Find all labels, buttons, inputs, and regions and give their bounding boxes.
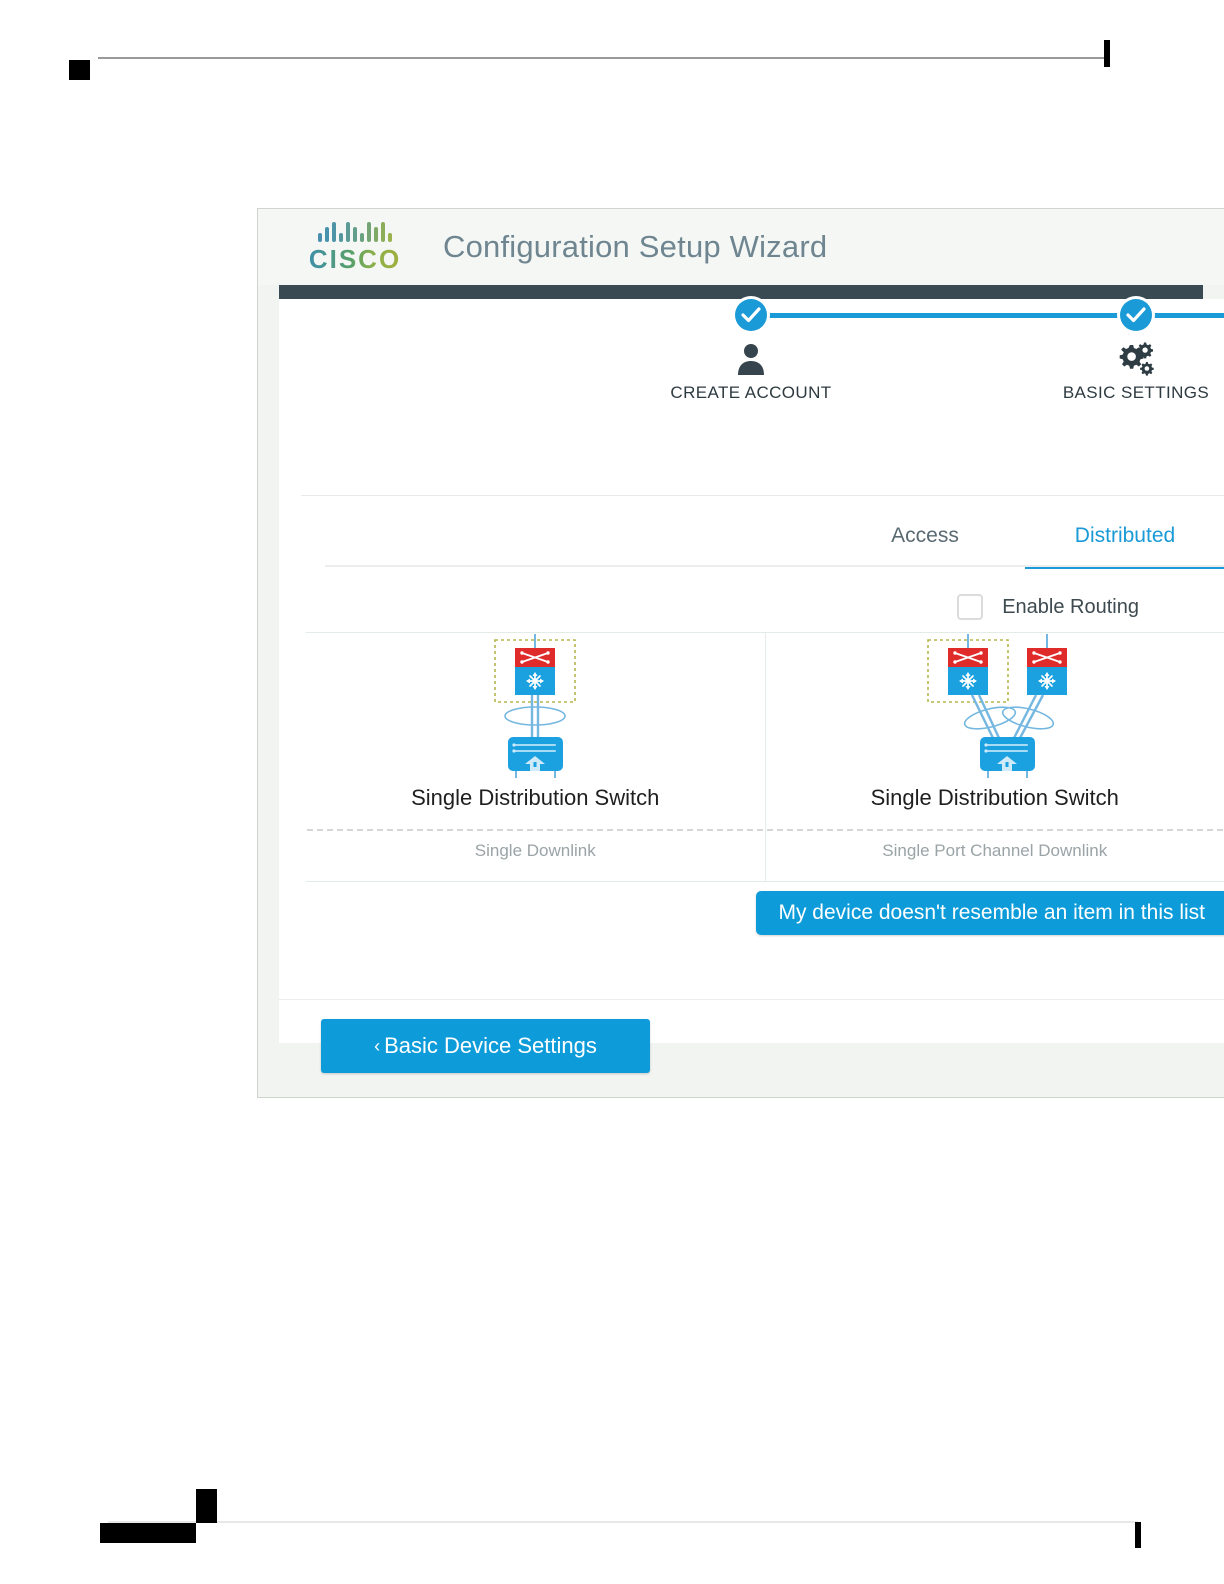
step-create-account[interactable]: CREATE ACCOUNT (631, 299, 871, 403)
cisco-logo: CISCO (299, 220, 411, 275)
topology-option-list: Single Distribution Switch Single Downli… (306, 632, 1224, 882)
page-top-rule (98, 57, 1108, 59)
tab-bar-rule (325, 565, 1224, 567)
step-label: BASIC SETTINGS (1016, 383, 1224, 403)
chevron-left-icon: ‹ (374, 1036, 380, 1056)
user-icon (631, 339, 871, 379)
crop-mark-top-left (69, 60, 90, 80)
enable-routing-label: Enable Routing (1002, 596, 1139, 619)
crop-mark-bottom-left (100, 1523, 196, 1543)
step-complete-check-icon (735, 299, 767, 331)
app-header: CISCO Configuration Setup Wizard (258, 209, 1224, 285)
no-match-row: My device doesn't resemble an item in th… (279, 891, 1224, 935)
topology-option-port-channel-downlink[interactable]: Single Distribution Switch Single Port C… (766, 633, 1224, 881)
back-button-label: Basic Device Settings (384, 1033, 597, 1058)
tab-access[interactable]: Access (825, 511, 1025, 569)
step-complete-check-icon (1120, 299, 1152, 331)
cisco-bridge-logo-icon (318, 220, 392, 242)
step-label: CREATE ACCOUNT (631, 383, 871, 403)
cisco-wordmark: CISCO (309, 244, 401, 275)
single-downlink-diagram-icon (306, 633, 765, 783)
step-basic-settings[interactable]: BASIC SETTINGS (1016, 299, 1224, 403)
tab-bar: Access Distributed (279, 511, 1224, 569)
tab-distributed[interactable]: Distributed (1025, 511, 1224, 569)
topology-option-single-downlink[interactable]: Single Distribution Switch Single Downli… (306, 633, 766, 881)
enable-routing-row: Enable Routing (279, 581, 1224, 633)
option-title: Single Distribution Switch (411, 785, 659, 811)
option-divider (307, 829, 763, 831)
wizard-footer: ‹Basic Device Settings (321, 1019, 650, 1073)
wizard-card: CREATE ACCOUNT (279, 299, 1224, 1043)
wizard-window: CISCO Configuration Setup Wizard CREATE … (257, 208, 1224, 1098)
page-title: Configuration Setup Wizard (443, 229, 827, 265)
wizard-stepper: CREATE ACCOUNT (279, 299, 1224, 411)
stepper-divider (301, 495, 1224, 496)
page-bottom-rule (108, 1521, 1138, 1523)
port-channel-downlink-diagram-icon (766, 633, 1224, 783)
no-match-button[interactable]: My device doesn't resemble an item in th… (756, 891, 1224, 935)
gears-icon (1016, 339, 1224, 379)
back-to-basic-device-settings-button[interactable]: ‹Basic Device Settings (321, 1019, 650, 1073)
tab-label: Access (891, 524, 959, 547)
option-subtitle: Single Port Channel Downlink (882, 841, 1107, 861)
footer-divider (279, 999, 1224, 1000)
crop-mark-bottom-right (1135, 1522, 1141, 1548)
option-divider (767, 829, 1223, 831)
crop-mark-top-right (1104, 40, 1110, 67)
option-subtitle: Single Downlink (475, 841, 596, 861)
header-accent-bar (279, 285, 1203, 299)
crop-mark-bottom-left-tab (196, 1489, 217, 1523)
checkbox-unchecked-icon[interactable] (957, 594, 983, 620)
option-title: Single Distribution Switch (871, 785, 1119, 811)
tab-label: Distributed (1075, 524, 1175, 547)
